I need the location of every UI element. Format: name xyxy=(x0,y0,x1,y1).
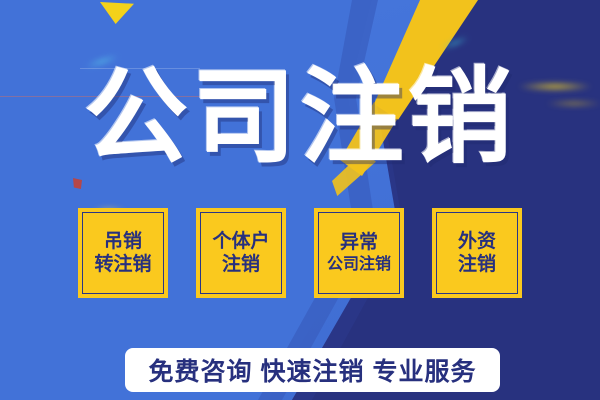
service-badge-3[interactable]: 异常 公司注销 xyxy=(314,208,404,298)
service-badge-4-inner: 外资 注销 xyxy=(436,212,518,294)
service-badge-1-line-2: 转注销 xyxy=(94,253,151,276)
service-badge-2-inner: 个体户 注销 xyxy=(200,212,282,294)
service-badge-1[interactable]: 吊销 转注销 xyxy=(78,208,168,298)
page-title: 公司注销 xyxy=(0,62,600,174)
service-badge-3-line-1: 异常 xyxy=(340,231,378,254)
service-badge-4-line-2: 注销 xyxy=(458,253,496,276)
service-badge-1-line-1: 吊销 xyxy=(104,230,142,253)
service-badge-4[interactable]: 外资 注销 xyxy=(432,208,522,298)
tagline-text: 免费咨询 快速注销 专业服务 xyxy=(149,352,477,388)
service-badge-3-inner: 异常 公司注销 xyxy=(318,212,400,294)
service-badge-2-line-2: 注销 xyxy=(222,253,260,276)
promo-poster: 公司注销 吊销 转注销 个体户 注销 异常 公司注销 外资 注销 xyxy=(0,0,600,400)
service-badge-2[interactable]: 个体户 注销 xyxy=(196,208,286,298)
service-badge-2-line-1: 个体户 xyxy=(212,230,269,253)
tagline-banner[interactable]: 免费咨询 快速注销 专业服务 xyxy=(125,348,500,392)
service-badge-4-line-1: 外资 xyxy=(458,230,496,253)
service-badge-1-inner: 吊销 转注销 xyxy=(82,212,164,294)
service-badge-3-line-2: 公司注销 xyxy=(327,254,391,275)
service-badge-row: 吊销 转注销 个体户 注销 异常 公司注销 外资 注销 xyxy=(78,208,522,298)
